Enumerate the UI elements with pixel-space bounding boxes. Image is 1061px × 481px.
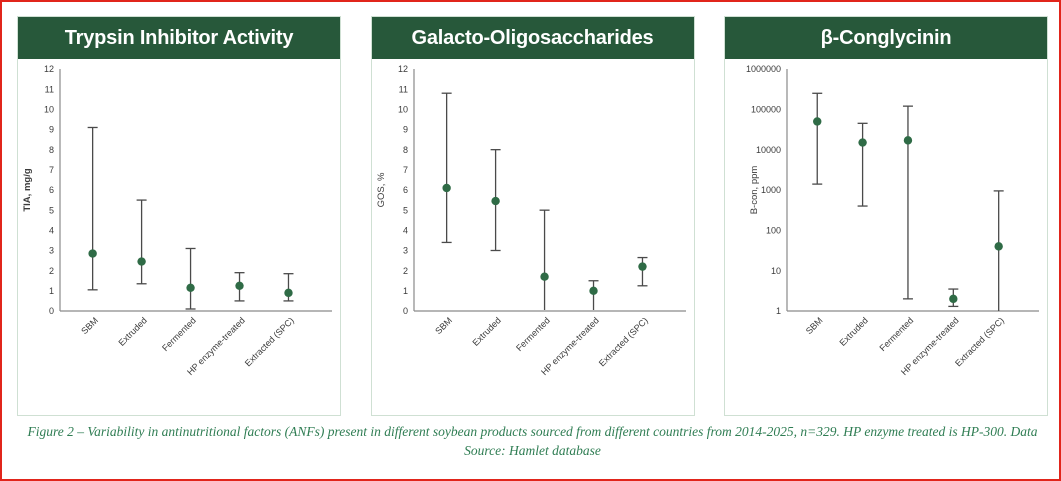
data-point-group <box>88 127 98 289</box>
chart-header-1: Galacto-Oligosaccharides <box>372 17 694 59</box>
data-point-marker <box>235 282 243 290</box>
y-axis-tick-label: 8 <box>49 145 54 155</box>
data-point-group <box>490 150 500 251</box>
chart-plot-area-1: 0123456789101112GOS, %SBMExtrudedFerment… <box>372 59 694 415</box>
chart-panel-trypsin-inhibitor-activity: Trypsin Inhibitor Activity 0123456789101… <box>17 16 341 416</box>
chart-title-0: Trypsin Inhibitor Activity <box>65 27 294 50</box>
chart-svg-2: 1101001000100001000001000000B-con, ppmSB… <box>725 59 1047 415</box>
y-axis-tick-label: 1000 <box>761 185 781 195</box>
x-axis-tick-label: Extruded <box>116 315 149 348</box>
y-axis-tick-label: 5 <box>402 205 407 215</box>
x-axis-tick-label: SBM <box>79 315 100 336</box>
data-point-group <box>235 273 245 301</box>
x-axis-tick-label: SBM <box>804 315 825 336</box>
data-point-marker <box>88 249 96 257</box>
y-axis-tick-label: 8 <box>402 145 407 155</box>
charts-row: Trypsin Inhibitor Activity 0123456789101… <box>17 16 1048 416</box>
y-axis-tick-label: 10000 <box>756 145 781 155</box>
data-point-group <box>812 93 822 184</box>
y-axis-tick-label: 12 <box>397 64 407 74</box>
x-axis-tick-label: Extracted (SPC) <box>953 315 1006 368</box>
x-axis-tick-label: Extracted (SPC) <box>596 315 649 368</box>
y-axis-tick-label: 4 <box>49 226 54 236</box>
y-axis-tick-label: 0 <box>49 306 54 316</box>
x-axis-tick-label: Extruded <box>470 315 503 348</box>
y-axis-tick-label: 1000000 <box>746 64 781 74</box>
y-axis-tick-label: 3 <box>402 246 407 256</box>
y-axis-tick-label: 10 <box>44 105 54 115</box>
y-axis-tick-label: 1 <box>776 306 781 316</box>
y-axis-tick-label: 1 <box>49 286 54 296</box>
y-axis-tick-label: 3 <box>49 246 54 256</box>
chart-plot-area-2: 1101001000100001000001000000B-con, ppmSB… <box>725 59 1047 415</box>
data-point-group <box>948 289 958 306</box>
x-axis-tick-label: Fermented <box>878 315 916 353</box>
data-point-group <box>539 210 549 310</box>
y-axis-tick-label: 9 <box>402 125 407 135</box>
data-point-marker <box>638 262 646 270</box>
chart-title-2: β-Conglycinin <box>821 27 952 50</box>
x-axis-tick-label: Extruded <box>837 315 870 348</box>
y-axis-tick-label: 10 <box>397 105 407 115</box>
chart-svg-0: 0123456789101112TIA, mg/gSBMExtrudedFerm… <box>18 59 340 415</box>
y-axis-tick-label: 6 <box>402 185 407 195</box>
chart-plot-area-0: 0123456789101112TIA, mg/gSBMExtrudedFerm… <box>18 59 340 415</box>
data-point-marker <box>949 295 957 303</box>
data-point-group <box>903 106 913 299</box>
y-axis-tick-label: 100 <box>766 226 781 236</box>
y-axis-tick-label: 10 <box>771 266 781 276</box>
data-point-marker <box>186 284 194 292</box>
chart-svg-1: 0123456789101112GOS, %SBMExtrudedFerment… <box>372 59 694 415</box>
data-point-marker <box>813 117 821 125</box>
x-axis-tick-label: Fermented <box>514 315 552 353</box>
data-point-group <box>588 281 598 310</box>
chart-header-0: Trypsin Inhibitor Activity <box>18 17 340 59</box>
y-axis-tick-label: 4 <box>402 226 407 236</box>
data-point-marker <box>284 289 292 297</box>
data-point-group <box>858 123 868 206</box>
y-axis-tick-label: 6 <box>49 185 54 195</box>
data-point-group <box>186 248 196 309</box>
y-axis-tick-label: 2 <box>402 266 407 276</box>
figure-caption: Figure 2 – Variability in antinutritiona… <box>27 422 1038 460</box>
y-axis-tick-label: 1 <box>402 286 407 296</box>
y-axis-tick-label: 7 <box>402 165 407 175</box>
x-axis-tick-label: Extracted (SPC) <box>243 315 296 368</box>
chart-title-1: Galacto-Oligosaccharides <box>412 27 654 50</box>
y-axis-tick-label: 2 <box>49 266 54 276</box>
y-axis-title: GOS, % <box>376 172 387 207</box>
data-point-marker <box>137 257 145 265</box>
data-point-group <box>137 200 147 284</box>
y-axis-tick-label: 100000 <box>751 105 781 115</box>
data-point-marker <box>442 184 450 192</box>
data-point-marker <box>994 242 1002 250</box>
data-point-group <box>994 191 1004 311</box>
y-axis-tick-label: 7 <box>49 165 54 175</box>
y-axis-tick-label: 12 <box>44 64 54 74</box>
data-point-marker <box>491 197 499 205</box>
data-point-marker <box>858 138 866 146</box>
data-point-marker <box>589 287 597 295</box>
y-axis-tick-label: 0 <box>402 306 407 316</box>
data-point-group <box>637 258 647 286</box>
data-point-marker <box>540 273 548 281</box>
data-point-group <box>441 93 451 242</box>
x-axis-tick-label: Fermented <box>160 315 198 353</box>
y-axis-tick-label: 5 <box>49 205 54 215</box>
y-axis-title: TIA, mg/g <box>22 168 33 211</box>
chart-panel-beta-conglycinin: β-Conglycinin 11010010001000010000010000… <box>724 16 1048 416</box>
y-axis-tick-label: 11 <box>398 84 407 94</box>
x-axis-tick-label: SBM <box>433 315 454 336</box>
figure-frame: Trypsin Inhibitor Activity 0123456789101… <box>0 0 1061 481</box>
chart-panel-galacto-oligosaccharides: Galacto-Oligosaccharides 012345678910111… <box>371 16 695 416</box>
y-axis-tick-label: 11 <box>45 84 54 94</box>
y-axis-tick-label: 9 <box>49 125 54 135</box>
y-axis-title: B-con, ppm <box>749 166 760 215</box>
chart-header-2: β-Conglycinin <box>725 17 1047 59</box>
data-point-marker <box>904 136 912 144</box>
data-point-group <box>283 274 293 301</box>
